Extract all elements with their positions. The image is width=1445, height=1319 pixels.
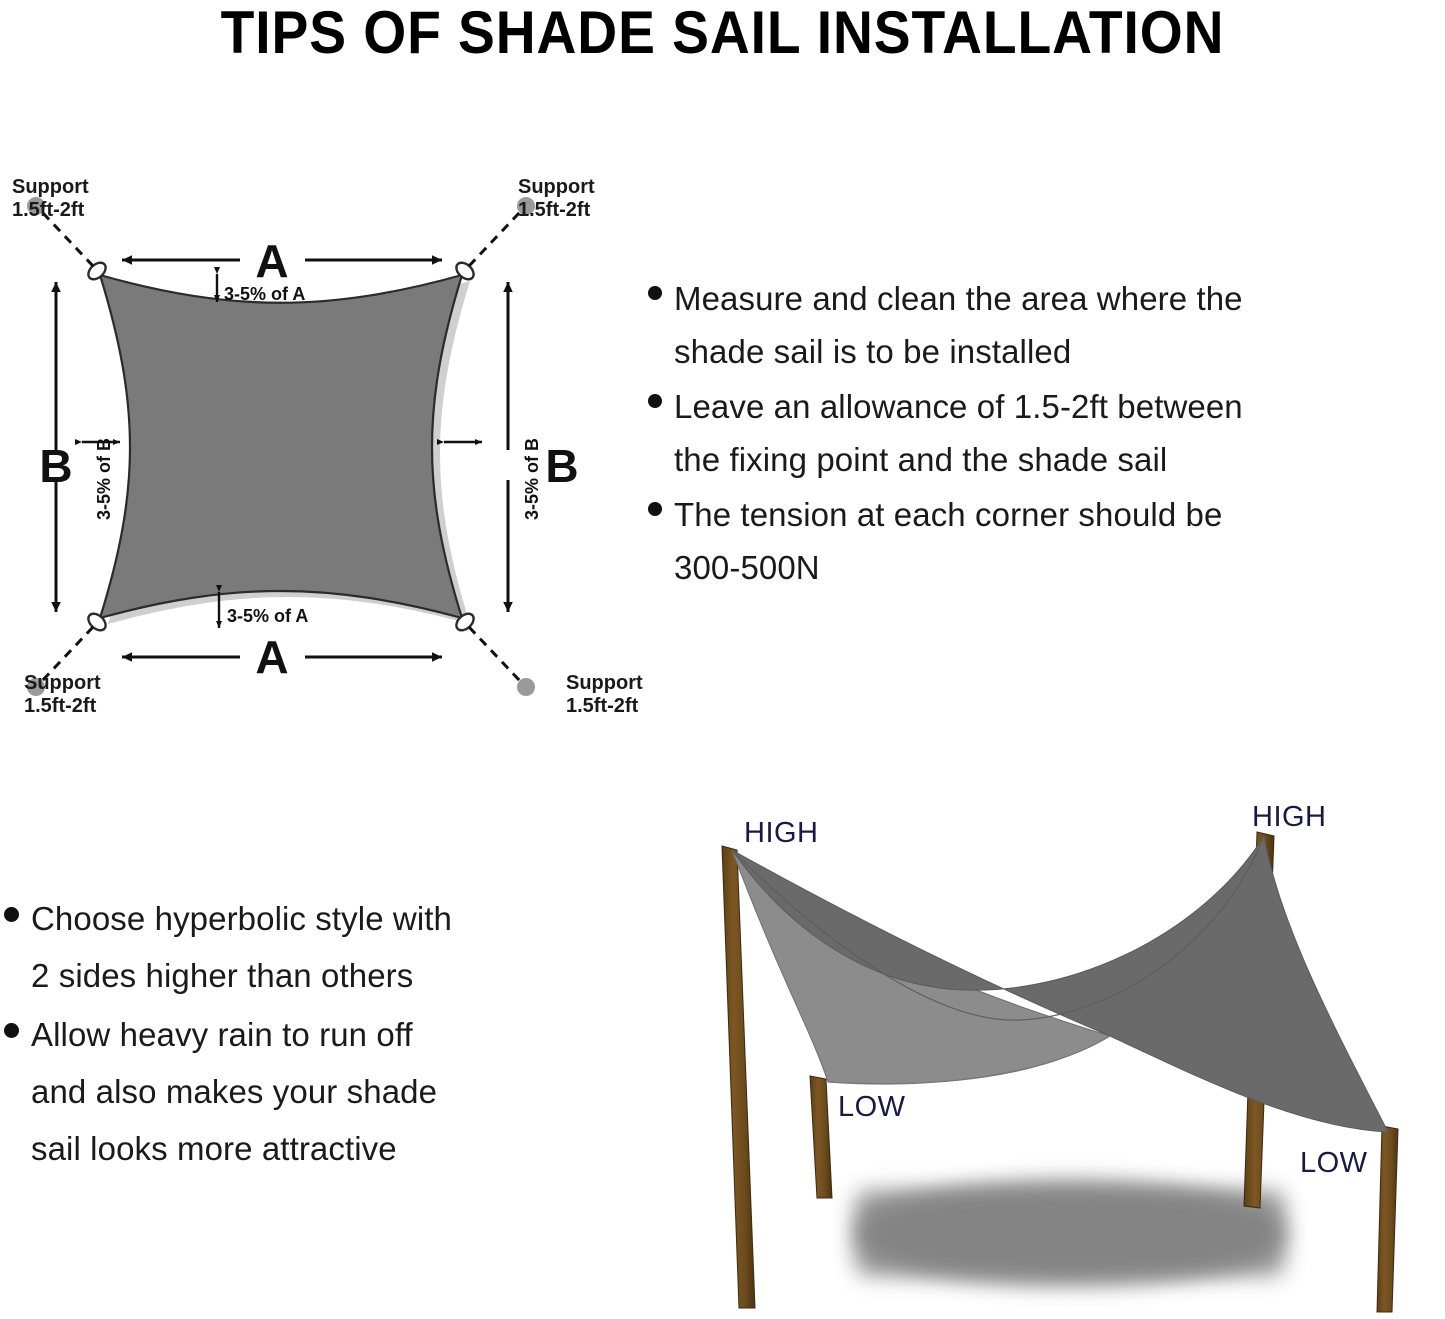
tip-line: The tension at each corner should be <box>674 496 1222 533</box>
hyperbolic-sail-svg <box>640 788 1445 1319</box>
tip-item: Choose hyperbolic style with 2 sides hig… <box>4 890 629 1004</box>
bullet-dot-icon <box>648 286 662 300</box>
annotation-top-sag-text: 3-5% of A <box>224 284 305 304</box>
installation-tips-list: Measure and clean the area where the sha… <box>648 272 1445 596</box>
tip-line: Measure and clean the area where the <box>674 280 1243 317</box>
hyperbolic-sail-diagram: HIGH HIGH LOW LOW <box>640 788 1445 1319</box>
support-label-line2: 1.5ft-2ft <box>518 199 590 221</box>
support-label-line1: Support <box>12 176 89 198</box>
support-label-line1: Support <box>518 176 595 198</box>
tip-item: The tension at each corner should be 300… <box>648 488 1445 594</box>
support-label-top-right: Support 1.5ft-2ft <box>518 176 595 222</box>
tip-line: Choose hyperbolic style with <box>31 900 452 937</box>
post-low-left <box>810 1076 832 1198</box>
tip-line: 2 sides higher than others <box>31 957 413 994</box>
infographic-page: TIPS OF SHADE SAIL INSTALLATION <box>0 0 1445 1319</box>
post-high-left <box>722 846 755 1308</box>
page-title: TIPS OF SHADE SAIL INSTALLATION <box>58 2 1387 64</box>
label-high-right: HIGH <box>1252 802 1327 833</box>
rect-sail-svg: A 3-5% of A A 3-5% of A B <box>0 150 660 730</box>
label-dimension-b-right: B <box>545 440 578 492</box>
label-dimension-b-left: B <box>39 440 72 492</box>
annotation-left-sag: 3-5% of B <box>82 438 120 520</box>
support-label-line1: Support <box>24 672 101 694</box>
support-label-line2: 1.5ft-2ft <box>12 199 84 221</box>
tip-item: Leave an allowance of 1.5-2ft between th… <box>648 380 1445 486</box>
tip-item: Measure and clean the area where the sha… <box>648 272 1445 378</box>
tip-text: Leave an allowance of 1.5-2ft between th… <box>674 380 1243 486</box>
support-label-line2: 1.5ft-2ft <box>566 695 638 717</box>
bullet-dot-icon <box>4 907 19 922</box>
tip-line: shade sail is to be installed <box>674 333 1071 370</box>
support-label-bottom-right: Support 1.5ft-2ft <box>566 672 643 718</box>
bullet-dot-icon <box>648 502 662 516</box>
label-dimension-a-top: A <box>255 235 288 287</box>
bullet-dot-icon <box>4 1023 19 1038</box>
tip-line: and also makes your shade <box>31 1073 437 1110</box>
rectangular-sail-diagram: A 3-5% of A A 3-5% of A B <box>0 150 660 730</box>
sail-body <box>100 275 462 618</box>
tip-text: Allow heavy rain to run off and also mak… <box>31 1006 437 1177</box>
tip-text: Choose hyperbolic style with 2 sides hig… <box>31 890 452 1004</box>
tip-text: Measure and clean the area where the sha… <box>674 272 1243 378</box>
support-label-line1: Support <box>566 672 643 694</box>
label-low-right: LOW <box>1300 1148 1368 1179</box>
tip-line: 300-500N <box>674 549 820 586</box>
tip-item: Allow heavy rain to run off and also mak… <box>4 1006 629 1177</box>
tip-line: Leave an allowance of 1.5-2ft between <box>674 388 1243 425</box>
label-low-left: LOW <box>838 1092 906 1123</box>
ground-shadow-rect <box>855 1190 1285 1276</box>
annotation-right-sag-text: 3-5% of B <box>522 438 542 520</box>
annotation-right-sag: 3-5% of B <box>444 438 542 520</box>
support-tether-bottom-right <box>469 627 535 696</box>
annotation-bottom-sag-text: 3-5% of A <box>227 606 308 626</box>
bullet-dot-icon <box>648 394 662 408</box>
support-label-line2: 1.5ft-2ft <box>24 695 96 717</box>
tip-line: Allow heavy rain to run off <box>31 1016 413 1053</box>
annotation-left-sag-text: 3-5% of B <box>94 438 114 520</box>
label-dimension-a-bottom: A <box>255 631 288 683</box>
support-label-top-left: Support 1.5ft-2ft <box>12 176 89 222</box>
tip-line: the fixing point and the shade sail <box>674 441 1167 478</box>
tip-line: sail looks more attractive <box>31 1130 397 1167</box>
tip-text: The tension at each corner should be 300… <box>674 488 1222 594</box>
label-high-left: HIGH <box>744 818 819 849</box>
support-label-bottom-left: Support 1.5ft-2ft <box>24 672 101 718</box>
post-low-right <box>1377 1126 1398 1312</box>
hyperbolic-style-tips-list: Choose hyperbolic style with 2 sides hig… <box>4 890 629 1179</box>
